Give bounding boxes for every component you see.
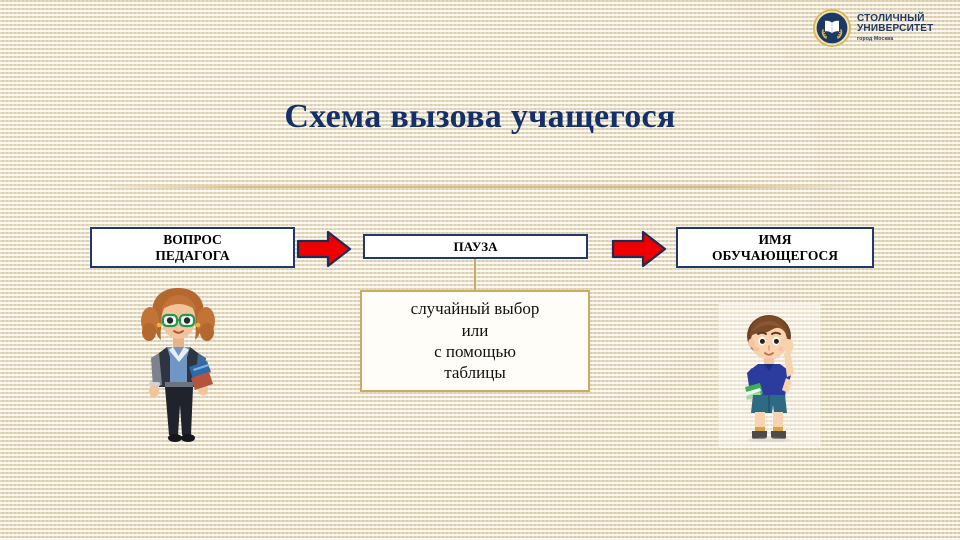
note-line-4: таблицы bbox=[444, 362, 506, 383]
flow-step-student-name: ИМЯ ОБУЧАЮЩЕГОСЯ bbox=[676, 227, 874, 268]
note-line-3: с помощью bbox=[434, 341, 516, 362]
logo-line-2: УНИВЕРСИТЕТ bbox=[857, 24, 933, 34]
right-arrow-icon bbox=[610, 228, 668, 270]
student-boy-illustration bbox=[728, 310, 810, 442]
title-divider bbox=[110, 186, 852, 188]
pause-note-box: случайный выбор или с помощью таблицы bbox=[360, 290, 590, 392]
flow-step-student-name-line1: ИМЯ bbox=[759, 232, 792, 247]
teacher-woman-illustration bbox=[123, 283, 233, 448]
flow-step-question: ВОПРОС ПЕДАГОГА bbox=[90, 227, 295, 268]
open-book-laurel-emblem bbox=[812, 8, 852, 48]
flow-step-pause: ПАУЗА bbox=[363, 234, 588, 259]
right-arrow-icon bbox=[295, 228, 353, 270]
flow-step-pause-label: ПАУЗА bbox=[454, 239, 498, 254]
flow-step-question-line1: ВОПРОС bbox=[163, 232, 222, 247]
note-line-1: случайный выбор bbox=[411, 298, 540, 319]
university-logo: СТОЛИЧНЫЙ УНИВЕРСИТЕТ город Москва bbox=[812, 8, 933, 48]
logo-line-3: город Москва bbox=[857, 37, 933, 42]
slide-canvas: СТОЛИЧНЫЙ УНИВЕРСИТЕТ город Москва Схема… bbox=[0, 0, 960, 540]
burlap-background-texture bbox=[0, 0, 960, 540]
note-line-2: или bbox=[462, 320, 489, 341]
page-title: Схема вызова учащегося bbox=[0, 98, 960, 136]
pause-note-connector bbox=[474, 259, 476, 290]
flow-step-question-line2: ПЕДАГОГА bbox=[155, 248, 229, 263]
flow-step-student-name-line2: ОБУЧАЮЩЕГОСЯ bbox=[712, 248, 838, 263]
